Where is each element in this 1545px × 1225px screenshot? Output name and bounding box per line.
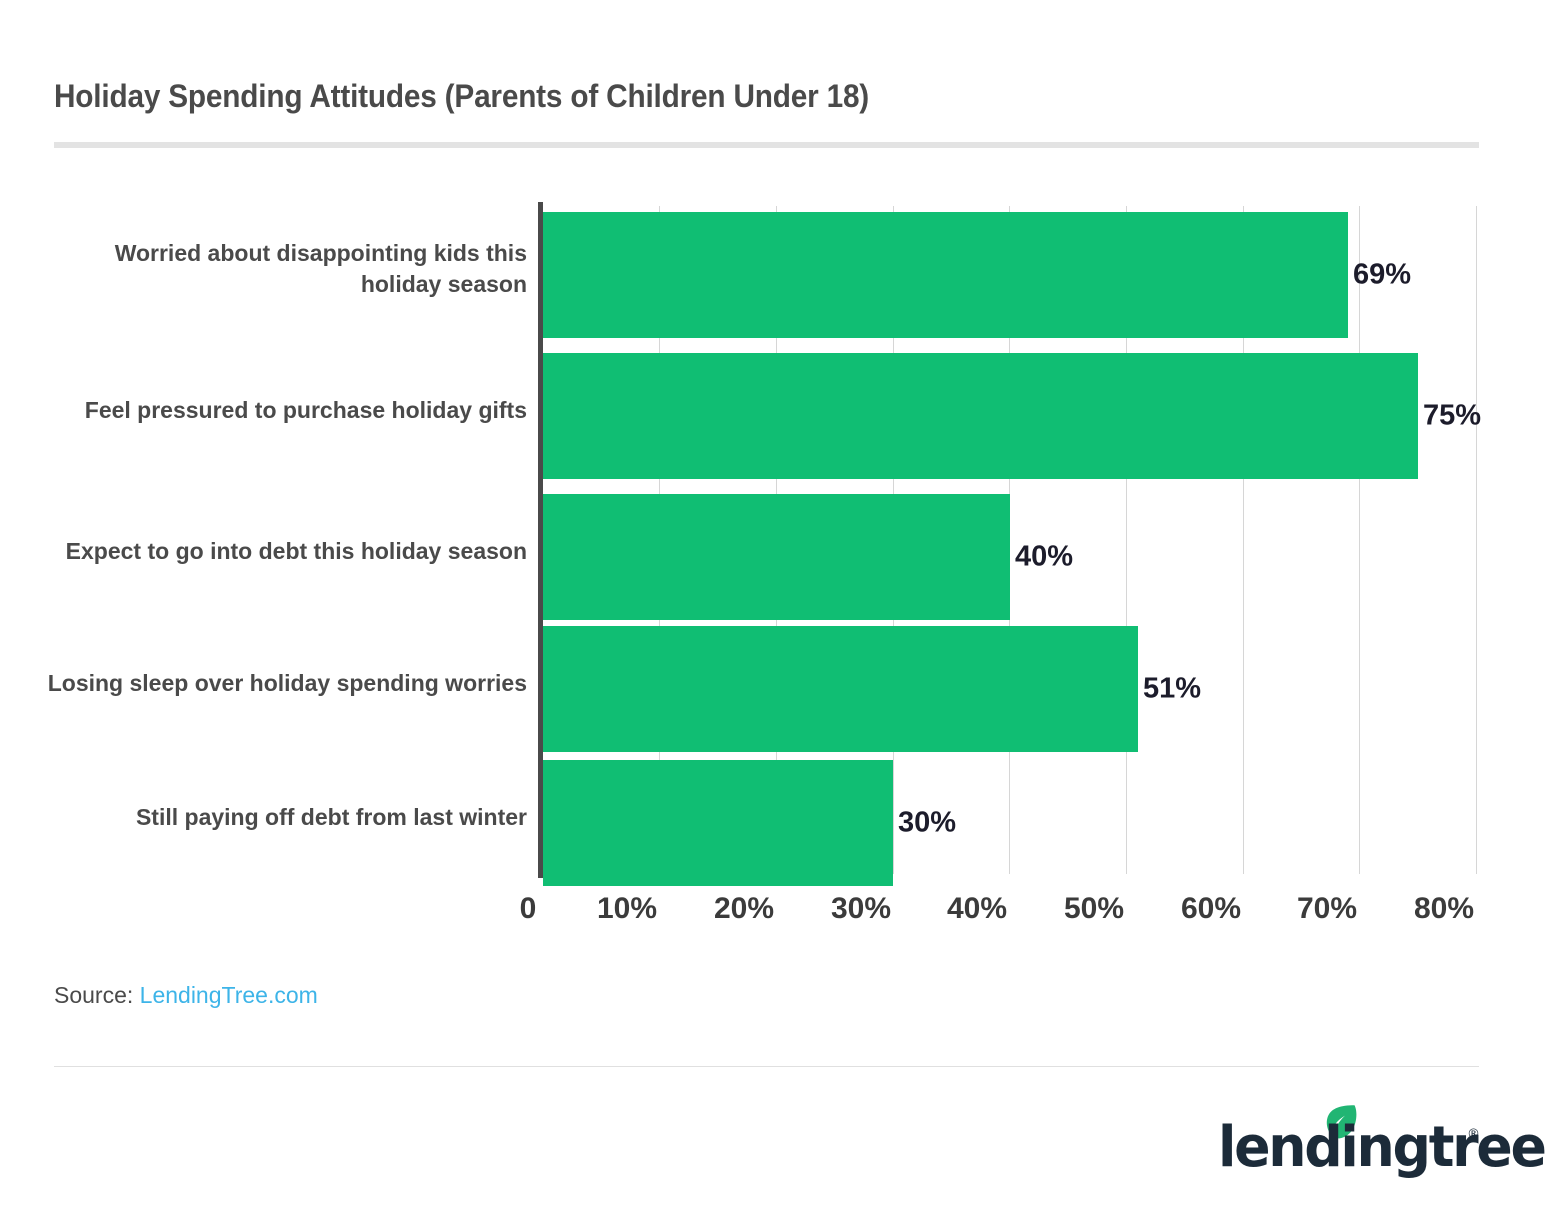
bar-losing-sleep-over-spending-worries[interactable] xyxy=(543,626,1138,752)
x-tick-label-0: 0 xyxy=(520,892,537,926)
x-tick-label-70: 70% xyxy=(1297,892,1357,926)
logo-wordmark: lendingtree xyxy=(1218,1120,1545,1176)
bar-value-label: 30% xyxy=(893,807,956,840)
footer-divider xyxy=(54,1066,1479,1067)
category-label: Still paying off debt from last winter xyxy=(37,802,527,833)
category-axis: Worried about disappointing kids this ho… xyxy=(0,206,527,874)
plot-area: 69% 75% 40% 51% 30% xyxy=(543,206,1477,874)
category-label: Losing sleep over holiday spending worri… xyxy=(37,668,527,699)
category-label-row: Expect to go into debt this holiday seas… xyxy=(0,488,527,614)
value-axis-line xyxy=(538,202,543,878)
logo-registered-mark: ® xyxy=(1467,1127,1480,1142)
bar-expect-to-go-into-debt[interactable] xyxy=(543,494,1010,620)
x-tick-label-20: 20% xyxy=(714,892,774,926)
category-label: Expect to go into debt this holiday seas… xyxy=(37,536,527,567)
bar-still-paying-off-debt[interactable] xyxy=(543,760,893,886)
source-link[interactable]: LendingTree.com xyxy=(140,982,318,1008)
bar-feel-pressured-to-purchase-gifts[interactable] xyxy=(543,353,1418,479)
infographic-canvas: Holiday Spending Attitudes (Parents of C… xyxy=(0,0,1545,1225)
lendingtree-logo[interactable]: lendingtree ® xyxy=(1218,1104,1480,1182)
x-tick-label-30: 30% xyxy=(831,892,891,926)
bar-value-label: 40% xyxy=(1010,541,1073,574)
x-tick-label-50: 50% xyxy=(1064,892,1124,926)
category-label: Feel pressured to purchase holiday gifts xyxy=(37,395,527,426)
x-tick-label-10: 10% xyxy=(597,892,657,926)
x-tick-label-40: 40% xyxy=(947,892,1007,926)
gridline-80 xyxy=(1476,206,1477,874)
page-title: Holiday Spending Attitudes (Parents of C… xyxy=(54,78,869,115)
gridline-70 xyxy=(1359,206,1360,874)
bar-value-label: 51% xyxy=(1138,673,1201,706)
category-label: Worried about disappointing kids this ho… xyxy=(37,238,527,300)
bar-worried-about-disappointing-kids[interactable] xyxy=(543,212,1348,338)
title-divider xyxy=(54,142,1479,148)
bar-value-label: 75% xyxy=(1418,400,1481,433)
category-label-row: Still paying off debt from last winter xyxy=(0,754,527,880)
bar-value-label: 69% xyxy=(1348,259,1411,292)
category-label-row: Losing sleep over holiday spending worri… xyxy=(0,620,527,746)
x-tick-label-60: 60% xyxy=(1181,892,1241,926)
source-line: Source: LendingTree.com xyxy=(54,982,318,1009)
source-prefix: Source: xyxy=(54,982,140,1008)
category-label-row: Worried about disappointing kids this ho… xyxy=(0,206,527,332)
x-tick-label-80: 80% xyxy=(1414,892,1474,926)
category-label-row: Feel pressured to purchase holiday gifts xyxy=(0,347,527,473)
